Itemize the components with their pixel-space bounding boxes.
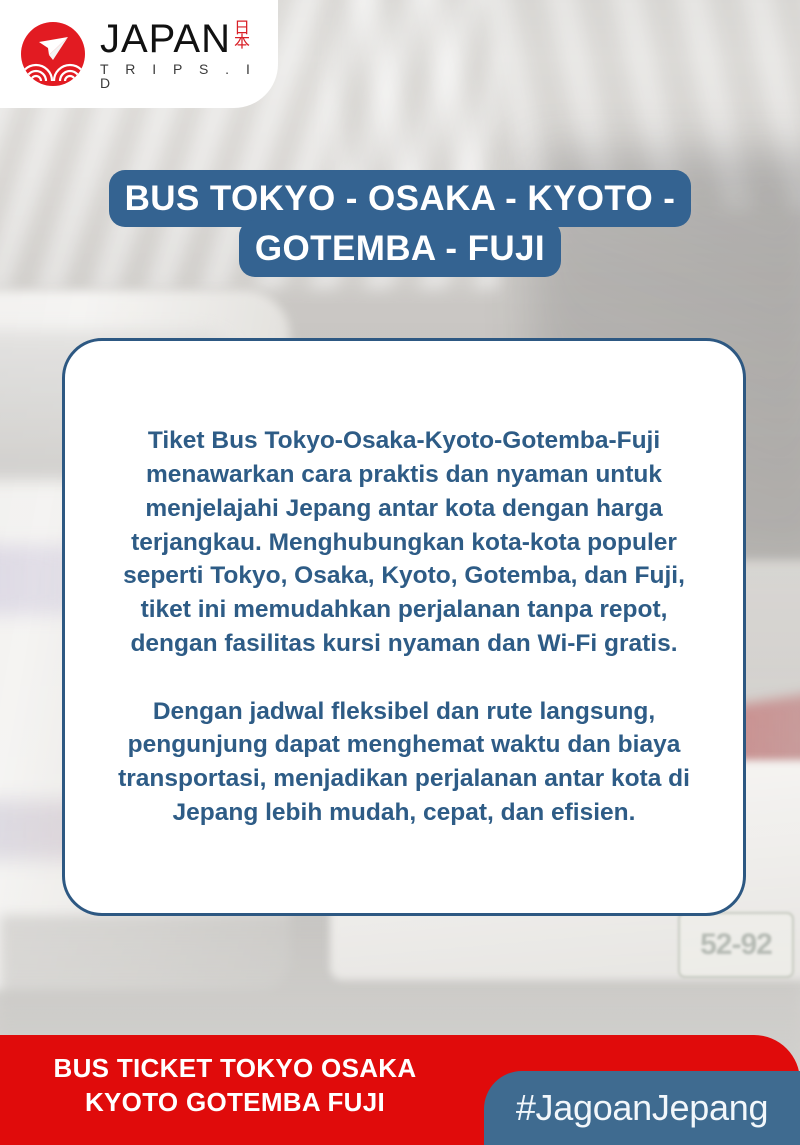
poster-title-line-1: BUS TOKYO - OSAKA - KYOTO - bbox=[109, 170, 692, 227]
japan-trips-circle-logo-icon bbox=[18, 19, 88, 89]
brand-kanji: 日 本 bbox=[234, 19, 250, 50]
brand-kanji-bottom: 本 bbox=[234, 35, 250, 50]
footer-hashtag[interactable]: #JagoanJepang bbox=[484, 1071, 800, 1145]
brand-tagline: T R I P S . I D bbox=[100, 62, 278, 90]
description-paragraph-1: Tiket Bus Tokyo-Osaka-Kyoto-Gotemba-Fuji… bbox=[99, 424, 709, 661]
poster-title: BUS TOKYO - OSAKA - KYOTO - GOTEMBA - FU… bbox=[0, 174, 800, 273]
footer-bar: BUS TICKET TOKYO OSAKA KYOTO GOTEMBA FUJ… bbox=[0, 1035, 800, 1145]
brand-logo-plate[interactable]: JAPAN 日 本 T R I P S . I D bbox=[0, 0, 278, 108]
description-card: Tiket Bus Tokyo-Osaka-Kyoto-Gotemba-Fuji… bbox=[62, 338, 746, 916]
brand-name: JAPAN bbox=[100, 19, 231, 59]
brand-wordmark: JAPAN 日 本 T R I P S . I D bbox=[100, 19, 278, 90]
footer-title-line-1: BUS TICKET TOKYO OSAKA bbox=[0, 1051, 470, 1085]
footer-title: BUS TICKET TOKYO OSAKA KYOTO GOTEMBA FUJ… bbox=[0, 1051, 470, 1120]
poster-canvas: 240 52-92 bbox=[0, 0, 800, 1145]
description-paragraph-2: Dengan jadwal fleksibel dan rute langsun… bbox=[99, 695, 709, 830]
footer-title-line-2: KYOTO GOTEMBA FUJI bbox=[0, 1085, 470, 1119]
poster-title-line-2: GOTEMBA - FUJI bbox=[239, 220, 561, 277]
